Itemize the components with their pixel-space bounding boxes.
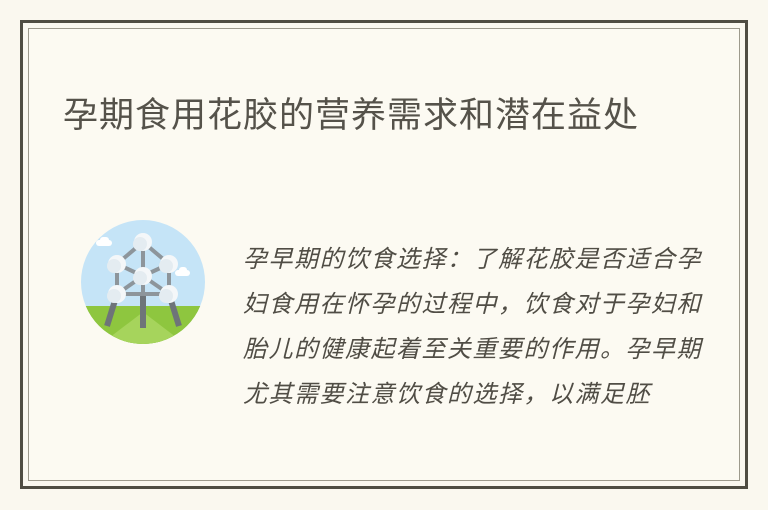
article-card: 孕期食用花胶的营养需求和潜在益处 [20,20,748,489]
article-inner-frame: 孕期食用花胶的营养需求和潜在益处 [28,28,740,481]
article-paragraph: 孕早期的饮食选择：了解花胶是否适合孕妇食用在怀孕的过程中，饮食对于孕妇和胎儿的健… [243,238,719,418]
article-body-row: 孕早期的饮食选择：了解花胶是否适合孕妇食用在怀孕的过程中，饮食对于孕妇和胎儿的健… [63,214,719,442]
page-title: 孕期食用花胶的营养需求和潜在益处 [63,92,673,140]
atomium-monument-illustration-icon [81,220,205,344]
